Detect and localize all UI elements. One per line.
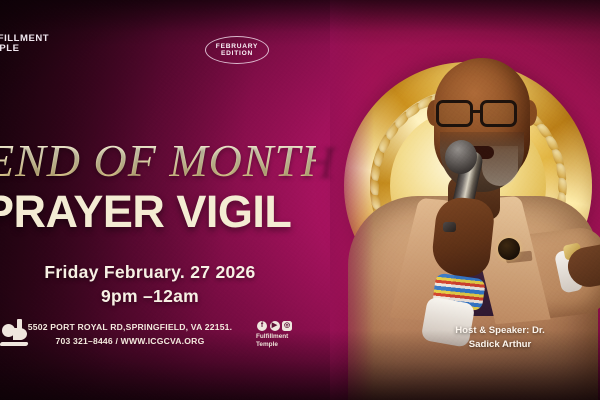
brand-logo-top-left: ULFILLMENT EMPLE <box>0 34 76 68</box>
speaker-credit-line-2: Sadick Arthur <box>420 338 580 352</box>
headline-script: END OF MONTH <box>0 134 316 187</box>
facebook-icon[interactable]: f <box>257 321 267 331</box>
edition-badge-line-1: FEBRUARY <box>216 43 258 50</box>
brand-line-2: EMPLE <box>0 44 76 54</box>
edition-badge-line-2: EDITION <box>221 50 253 57</box>
youtube-icon[interactable]: ▶ <box>270 321 280 331</box>
social-brand-name: Fulfillment Temple <box>256 333 316 349</box>
event-time: 9pm –12am <box>0 286 300 307</box>
edition-badge: FEBRUARY EDITION <box>205 36 269 64</box>
speaker-credit-line-1: Host & Speaker: Dr. <box>420 324 580 338</box>
instagram-icon[interactable]: ◎ <box>282 321 292 331</box>
social-brand-line-2: Temple <box>256 341 316 349</box>
contact-info[interactable]: 703 321–8446 / WWW.ICGCVA.ORG <box>0 336 260 346</box>
headline-main: PRAYER VIGIL <box>0 186 324 238</box>
social-brand-line-1: Fulfillment <box>256 333 316 341</box>
event-date: Friday February. 27 2026 <box>0 262 300 283</box>
speaker-credit: Host & Speaker: Dr. Sadick Arthur <box>420 324 580 352</box>
event-flyer: ULFILLMENT EMPLE FEBRUARY EDITION END OF… <box>0 0 600 400</box>
venue-address: 5502 PORT ROYAL RD,SPRINGFIELD, VA 22151… <box>0 322 260 332</box>
social-links[interactable]: f ▶ ◎ <box>257 320 297 332</box>
